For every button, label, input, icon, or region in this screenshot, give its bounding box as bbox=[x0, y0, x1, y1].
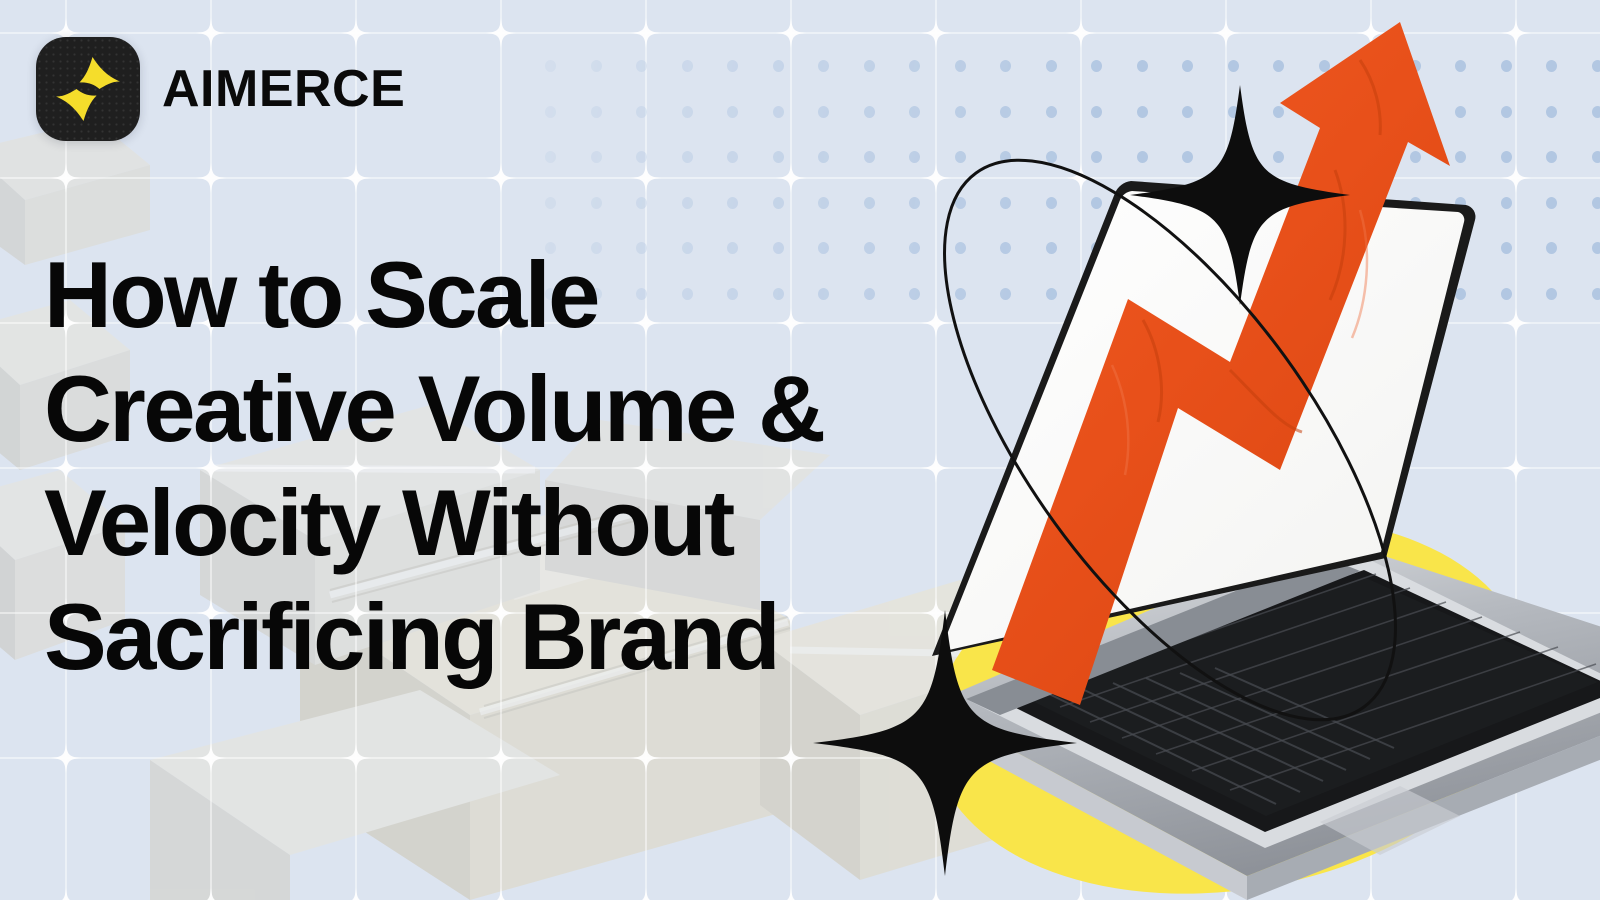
pattern-dot bbox=[591, 106, 602, 118]
pattern-dot bbox=[545, 197, 556, 209]
grid-sparkle-icon bbox=[196, 163, 226, 193]
aimerce-sparkle-logo-icon bbox=[36, 37, 140, 141]
headline-line-3: Velocity Without bbox=[44, 466, 874, 580]
grid-sparkle-icon bbox=[341, 888, 371, 900]
pattern-dot bbox=[545, 60, 556, 72]
pattern-dot bbox=[545, 106, 556, 118]
headline-line-1: How to Scale bbox=[44, 238, 874, 352]
pattern-dot bbox=[682, 151, 693, 163]
grid-sparkle-icon bbox=[196, 743, 226, 773]
pattern-dot bbox=[636, 151, 647, 163]
pattern-dot bbox=[636, 60, 647, 72]
hero-illustration bbox=[760, 0, 1600, 900]
grid-sparkle-icon bbox=[486, 743, 516, 773]
pattern-dot bbox=[591, 197, 602, 209]
grid-sparkle-icon bbox=[196, 888, 226, 900]
brand-logo[interactable]: AIMERCE bbox=[36, 37, 405, 141]
grid-sparkle-icon bbox=[631, 888, 661, 900]
grid-sparkle-icon bbox=[341, 743, 371, 773]
pattern-dot bbox=[682, 197, 693, 209]
pattern-dot bbox=[591, 151, 602, 163]
grid-sparkle-icon bbox=[51, 163, 81, 193]
grid-sparkle-icon bbox=[486, 18, 516, 48]
pattern-dot bbox=[727, 197, 738, 209]
pattern-dot bbox=[545, 151, 556, 163]
pattern-dot bbox=[727, 60, 738, 72]
pattern-dot bbox=[727, 106, 738, 118]
pattern-dot bbox=[682, 106, 693, 118]
grid-sparkle-icon bbox=[51, 888, 81, 900]
brand-wordmark: AIMERCE bbox=[162, 63, 405, 115]
grid-sparkle-icon bbox=[486, 163, 516, 193]
grid-sparkle-icon bbox=[631, 743, 661, 773]
pattern-dot bbox=[682, 60, 693, 72]
grid-sparkle-icon bbox=[631, 163, 661, 193]
pattern-dot bbox=[636, 106, 647, 118]
headline-line-4: Sacrificing Brand bbox=[44, 580, 874, 694]
headline-line-2: Creative Volume & bbox=[44, 352, 874, 466]
grid-sparkle-icon bbox=[486, 888, 516, 900]
grid-sparkle-icon bbox=[341, 163, 371, 193]
pattern-dot bbox=[591, 60, 602, 72]
hero-banner: AIMERCE How to Scale Creative Volume & V… bbox=[0, 0, 1600, 900]
grid-sparkle-icon bbox=[51, 743, 81, 773]
grid-sparkle-icon bbox=[631, 18, 661, 48]
pattern-dot bbox=[727, 151, 738, 163]
page-title: How to Scale Creative Volume & Velocity … bbox=[44, 238, 874, 694]
pattern-dot bbox=[636, 197, 647, 209]
